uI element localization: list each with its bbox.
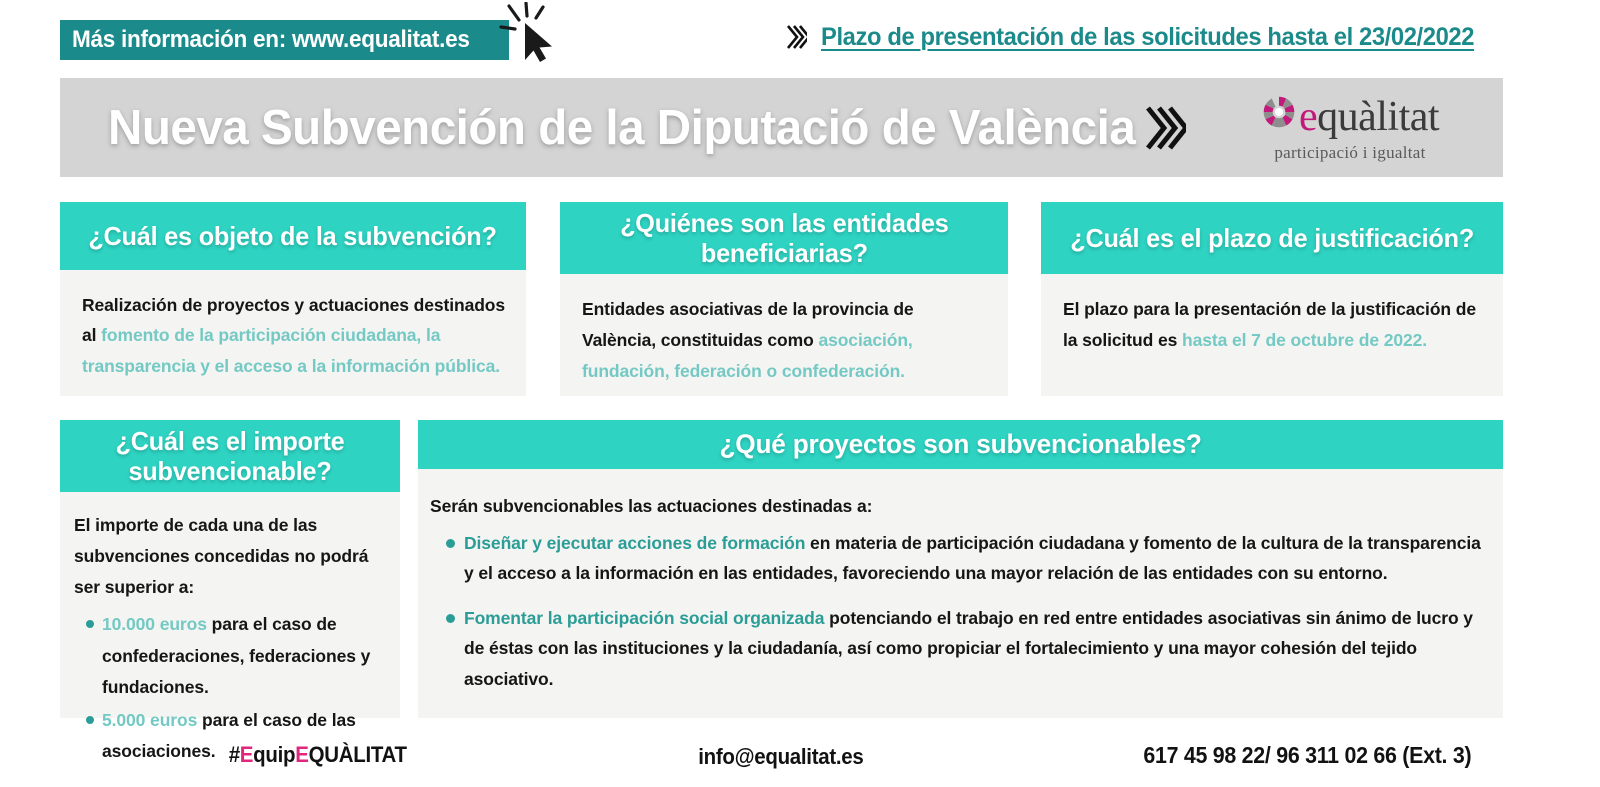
list-item: Fomentar la participación social organiz… xyxy=(430,603,1481,694)
bullet-highlight: Fomentar la participación social organiz… xyxy=(464,608,824,628)
card-objeto-subvencion: ¿Cuál es objeto de la subvención? Realiz… xyxy=(60,202,526,396)
top-strip: Más información en: www.equalitat.es Pla… xyxy=(0,0,1600,78)
card-intro-text: El importe de cada una de las subvencion… xyxy=(74,510,384,603)
info-banner[interactable]: Más información en: www.equalitat.es xyxy=(60,20,509,60)
hashtag-accent-2: E xyxy=(295,742,308,767)
card-title: ¿Cuál es el importesubvencionable? xyxy=(116,426,345,486)
list-item: Diseñar y ejecutar acciones de formación… xyxy=(430,528,1481,589)
logo-tagline: participació i igualtat xyxy=(1240,143,1460,163)
card-body: Entidades asociativas de la provincia de… xyxy=(560,274,1008,400)
logo-wordmark: equàlitat xyxy=(1299,96,1439,138)
card-plazo-justificacion: ¿Cuál es el plazo de justificación? El p… xyxy=(1041,202,1503,396)
poster-canvas: Más información en: www.equalitat.es Pla… xyxy=(0,0,1600,787)
card-proyectos-subvencionables: ¿Qué proyectos son subvencionables? Será… xyxy=(418,420,1503,718)
card-header: ¿Cuál es el importesubvencionable? xyxy=(60,420,400,492)
card-text-highlight: hasta el 7 de octubre de 2022. xyxy=(1182,330,1427,350)
card-header: ¿Cuál es objeto de la subvención? xyxy=(60,202,526,270)
card-title-line2: beneficiarias? xyxy=(701,238,868,268)
triple-chevron-right-icon xyxy=(1142,102,1186,154)
logo-word-rest: quàlitat xyxy=(1317,94,1439,140)
info-banner-text: Más información en: www.equalitat.es xyxy=(72,26,470,54)
click-cursor-icon xyxy=(495,2,561,64)
card-title: ¿Cuál es el plazo de justificación? xyxy=(1070,223,1474,253)
list-item: 10.000 euros para el caso de confederaci… xyxy=(74,609,384,702)
equalitat-logo: equàlitat participació i igualtat xyxy=(1240,93,1460,163)
card-body: Realización de proyectos y actuaciones d… xyxy=(60,270,526,396)
card-title: ¿Qué proyectos son subvencionables? xyxy=(719,429,1201,460)
footer: #EquipEQUÀLITAT info@equalitat.es 617 45… xyxy=(0,722,1600,787)
footer-email[interactable]: info@equalitat.es xyxy=(698,744,863,770)
footer-phone[interactable]: 617 45 98 22/ 96 311 02 66 (Ext. 3) xyxy=(1143,742,1471,769)
logo-accent-letter: e xyxy=(1299,94,1317,140)
bullet-highlight: 10.000 euros xyxy=(102,614,207,634)
card-title: ¿Cuál es objeto de la subvención? xyxy=(89,221,497,251)
card-title: ¿Quiénes son las entidadesbeneficiarias? xyxy=(620,208,949,268)
card-body: El plazo para la presentación de la just… xyxy=(1041,274,1503,396)
footer-hashtag: #EquipEQUÀLITAT xyxy=(229,742,407,768)
hashtag-prefix: # xyxy=(229,742,240,767)
hashtag-mid: quip xyxy=(253,742,295,767)
triple-chevron-right-icon xyxy=(785,22,807,52)
card-importe-subvencionable: ¿Cuál es el importesubvencionable? El im… xyxy=(60,420,400,718)
bullet-highlight: Diseñar y ejecutar acciones de formación xyxy=(464,533,805,553)
deadline-notice[interactable]: Plazo de presentación de las solicitudes… xyxy=(785,22,1508,52)
card-title-line1: ¿Quiénes son las entidades xyxy=(620,208,949,238)
proyectos-bullet-list: Diseñar y ejecutar acciones de formación… xyxy=(430,528,1481,694)
hashtag-suffix: QUÀLITAT xyxy=(309,742,407,767)
card-header: ¿Quiénes son las entidadesbeneficiarias? xyxy=(560,202,1008,274)
card-header: ¿Qué proyectos son subvencionables? xyxy=(418,420,1503,469)
card-title-line1: ¿Cuál es el importe xyxy=(116,426,345,456)
card-intro-text: Serán subvencionables las actuaciones de… xyxy=(430,491,1481,521)
hashtag-accent-1: E xyxy=(240,742,253,767)
card-body: Serán subvencionables las actuaciones de… xyxy=(418,469,1503,718)
card-title-line2: subvencionable? xyxy=(128,456,331,486)
page-title: Nueva Subvención de la Diputació de Valè… xyxy=(108,100,1135,156)
title-bar: Nueva Subvención de la Diputació de Valè… xyxy=(60,78,1503,177)
card-text-highlight: fomento de la participación ciudadana, l… xyxy=(82,325,500,376)
card-entidades-beneficiarias: ¿Quiénes son las entidadesbeneficiarias?… xyxy=(560,202,1008,396)
deadline-text: Plazo de presentación de las solicitudes… xyxy=(821,23,1474,52)
card-header: ¿Cuál es el plazo de justificación? xyxy=(1041,202,1503,274)
pinwheel-flower-icon xyxy=(1261,94,1297,130)
